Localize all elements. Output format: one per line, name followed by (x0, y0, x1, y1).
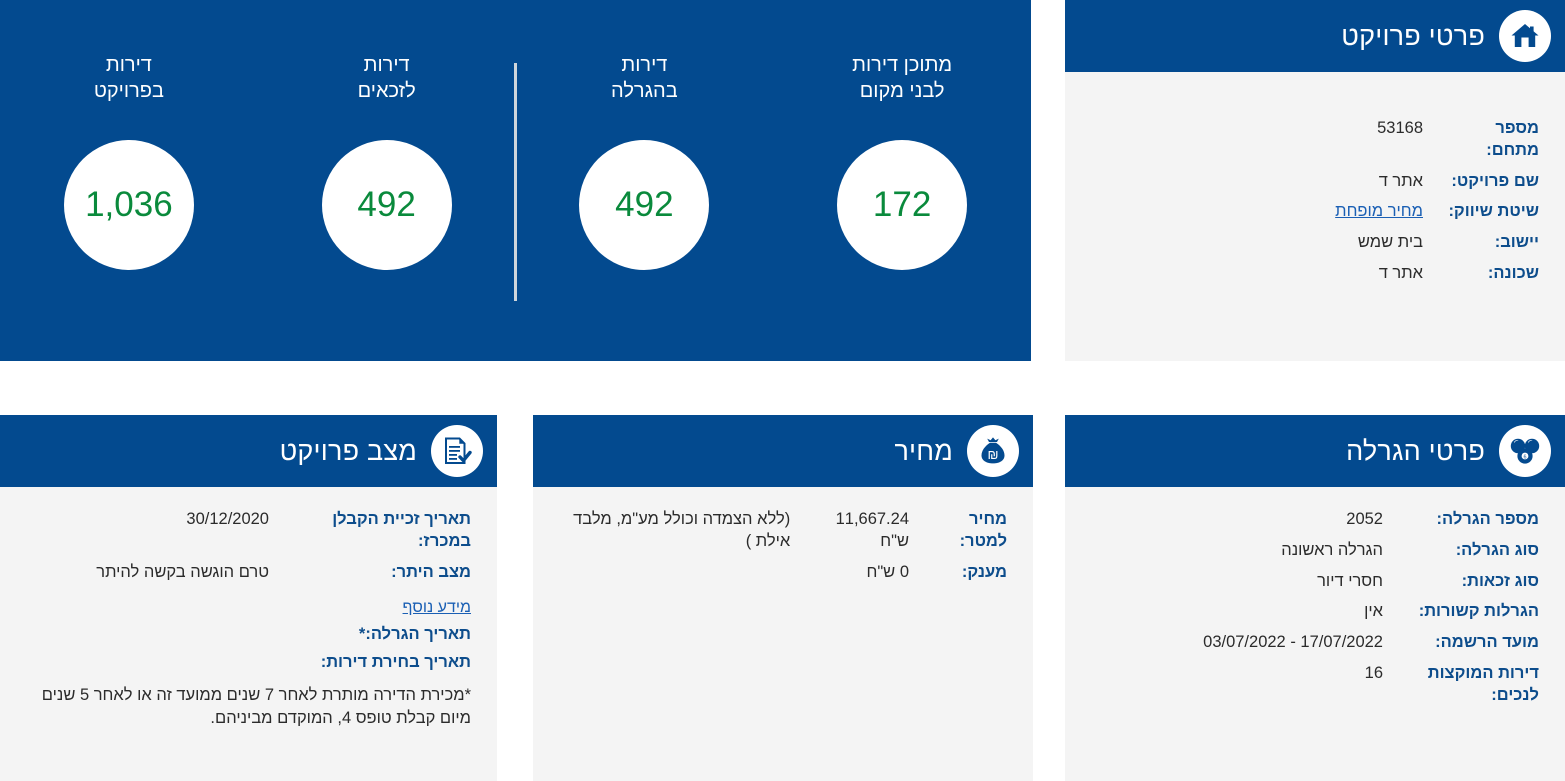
row-key: שכונה: (1441, 263, 1539, 285)
money-bag-shekel-icon: ₪ (967, 425, 1019, 477)
row-key: מחיר למטר: (919, 509, 1007, 553)
stat-value: 172 (873, 185, 931, 225)
row-value: בית שמש (1091, 232, 1423, 254)
row-value: חסרי דיור (1091, 571, 1383, 593)
row-value: הגרלה ראשונה (1091, 540, 1383, 562)
stat-label: דירות בפרויקט (94, 52, 164, 106)
detail-row-marketing-method: שיטת שיווק: מחיר מופחת (1091, 201, 1539, 223)
stat-value: 1,036 (85, 185, 173, 225)
lottery-row-eligibility-type: סוג זכאות: חסרי דיור (1091, 571, 1539, 593)
price-panel: ₪ מחיר מחיר למטר: 11,667.24 ש"ח (ללא הצמ… (533, 415, 1033, 781)
panel-title: פרטי פרויקט (1341, 21, 1485, 52)
svg-text:₪: ₪ (987, 447, 998, 462)
detail-row-compound-number: מספר מתחם: 53168 (1091, 118, 1539, 162)
panel-title: פרטי הגרלה (1346, 436, 1485, 467)
row-key: מצב היתר: (281, 562, 471, 584)
row-key: מספר הגרלה: (1393, 509, 1539, 531)
stat-label: דירות בהגרלה (611, 52, 678, 106)
row-key: מענק: (919, 562, 1007, 584)
row-key: הגרלות קשורות: (1393, 601, 1539, 623)
lottery-details-header: 6 פרטי הגרלה (1065, 415, 1565, 487)
panel-title: מחיר (894, 436, 953, 467)
lottery-row-related-lotteries: הגרלות קשורות: אין (1091, 601, 1539, 623)
more-info-row[interactable]: מידע נוסף (26, 599, 471, 617)
price-body: מחיר למטר: 11,667.24 ש"ח (ללא הצמדה וכול… (533, 487, 1033, 610)
row-key: שיטת שיווק: (1441, 201, 1539, 223)
lottery-row-registration-period: מועד הרשמה: 17/07/2022 - 03/07/2022 (1091, 632, 1539, 654)
project-details-panel: פרטי פרויקט מספר מתחם: 53168 שם פרויקט: … (1065, 0, 1565, 361)
lottery-row-number: מספר הגרלה: 2052 (1091, 509, 1539, 531)
status-row-lottery-date-key: תאריך הגרלה:* (26, 625, 471, 644)
stat-label: דירות לזכאים (358, 52, 416, 106)
lottery-details-panel: 6 פרטי הגרלה מספר הגרלה: 2052 סוג הגרלה:… (1065, 415, 1565, 781)
project-details-body: מספר מתחם: 53168 שם פרויקט: אתר ד שיטת ש… (1065, 72, 1565, 312)
row-value: אין (1091, 601, 1383, 623)
project-status-body: תאריך זכיית הקבלן במכרז: 30/12/2020 מצב … (0, 487, 497, 748)
stats-divider (514, 63, 517, 301)
status-row-permit-status: מצב היתר: טרם הוגשה בקשה להיתר (26, 562, 471, 584)
row-key: דירות המוקצות לנכים: (1393, 663, 1539, 707)
stat-value: 492 (615, 185, 673, 225)
marketing-method-link[interactable]: מחיר מופחת (1335, 202, 1423, 220)
row-value: טרם הוגשה בקשה להיתר (26, 562, 269, 584)
row-key: מספר מתחם: (1441, 118, 1539, 162)
stat-bubble: 1,036 (64, 140, 194, 270)
price-row-per-meter: מחיר למטר: 11,667.24 ש"ח (ללא הצמדה וכול… (559, 509, 1007, 553)
lottery-details-body: מספר הגרלה: 2052 סוג הגרלה: הגרלה ראשונה… (1065, 487, 1565, 733)
detail-row-project-name: שם פרויקט: אתר ד (1091, 171, 1539, 193)
row-key: שם פרויקט: (1441, 171, 1539, 193)
row-note: (ללא הצמדה וכולל מע"מ, מלבד אילת ) (559, 509, 790, 553)
stat-label: מתוכן דירות לבני מקום (852, 52, 952, 106)
row-value: 11,667.24 ש"ח (816, 509, 909, 553)
row-value: 16 (1091, 663, 1383, 685)
more-info-link[interactable]: מידע נוסף (403, 599, 471, 616)
detail-row-neighborhood: שכונה: אתר ד (1091, 263, 1539, 285)
project-details-header: פרטי פרויקט (1065, 0, 1565, 72)
price-header: ₪ מחיר (533, 415, 1033, 487)
row-value: 0 ש"ח (789, 562, 909, 584)
stat-value: 492 (357, 185, 415, 225)
price-row-grant: מענק: 0 ש"ח (559, 562, 1007, 584)
project-status-panel: מצב פרויקט תאריך זכיית הקבלן במכרז: 30/1… (0, 415, 497, 781)
row-key: סוג הגרלה: (1393, 540, 1539, 562)
panel-title: מצב פרויקט (280, 436, 417, 467)
stat-bubble: 172 (837, 140, 967, 270)
stat-card-apartments-in-lottery: דירות בהגרלה 492 (516, 0, 774, 270)
stat-bubble: 492 (579, 140, 709, 270)
lottery-row-disabled-allocation: דירות המוקצות לנכים: 16 (1091, 663, 1539, 707)
status-footnote: *מכירת הדירה מותרת לאחר 7 שנים ממועד זה … (26, 684, 471, 730)
row-value: 30/12/2020 (26, 509, 269, 531)
stat-card-local-residents-apartments: מתוכן דירות לבני מקום 172 (773, 0, 1031, 270)
row-key: סוג זכאות: (1393, 571, 1539, 593)
lottery-row-type: סוג הגרלה: הגרלה ראשונה (1091, 540, 1539, 562)
document-check-icon (431, 425, 483, 477)
row-key: מועד הרשמה: (1393, 632, 1539, 654)
svg-text:6: 6 (1524, 455, 1527, 461)
stats-panel: מתוכן דירות לבני מקום 172 דירות בהגרלה 4… (0, 0, 1031, 361)
status-row-apartment-choice-date-key: תאריך בחירת דירות: (26, 653, 471, 672)
stat-card-apartments-for-eligible: דירות לזכאים 492 (258, 0, 516, 270)
row-value: אתר ד (1091, 171, 1423, 193)
row-value-link[interactable]: מחיר מופחת (1091, 201, 1423, 223)
row-value: 2052 (1091, 509, 1383, 531)
detail-row-city: יישוב: בית שמש (1091, 232, 1539, 254)
row-value: אתר ד (1091, 263, 1423, 285)
status-row-contractor-win-date: תאריך זכיית הקבלן במכרז: 30/12/2020 (26, 509, 471, 553)
row-key: תאריך זכיית הקבלן במכרז: (281, 509, 471, 553)
row-value: 17/07/2022 - 03/07/2022 (1091, 632, 1383, 654)
lottery-balls-icon: 6 (1499, 425, 1551, 477)
stat-bubble: 492 (322, 140, 452, 270)
stat-card-apartments-in-project: דירות בפרויקט 1,036 (0, 0, 258, 270)
home-icon (1499, 10, 1551, 62)
row-value: 53168 (1091, 118, 1423, 140)
row-key: יישוב: (1441, 232, 1539, 254)
project-status-header: מצב פרויקט (0, 415, 497, 487)
